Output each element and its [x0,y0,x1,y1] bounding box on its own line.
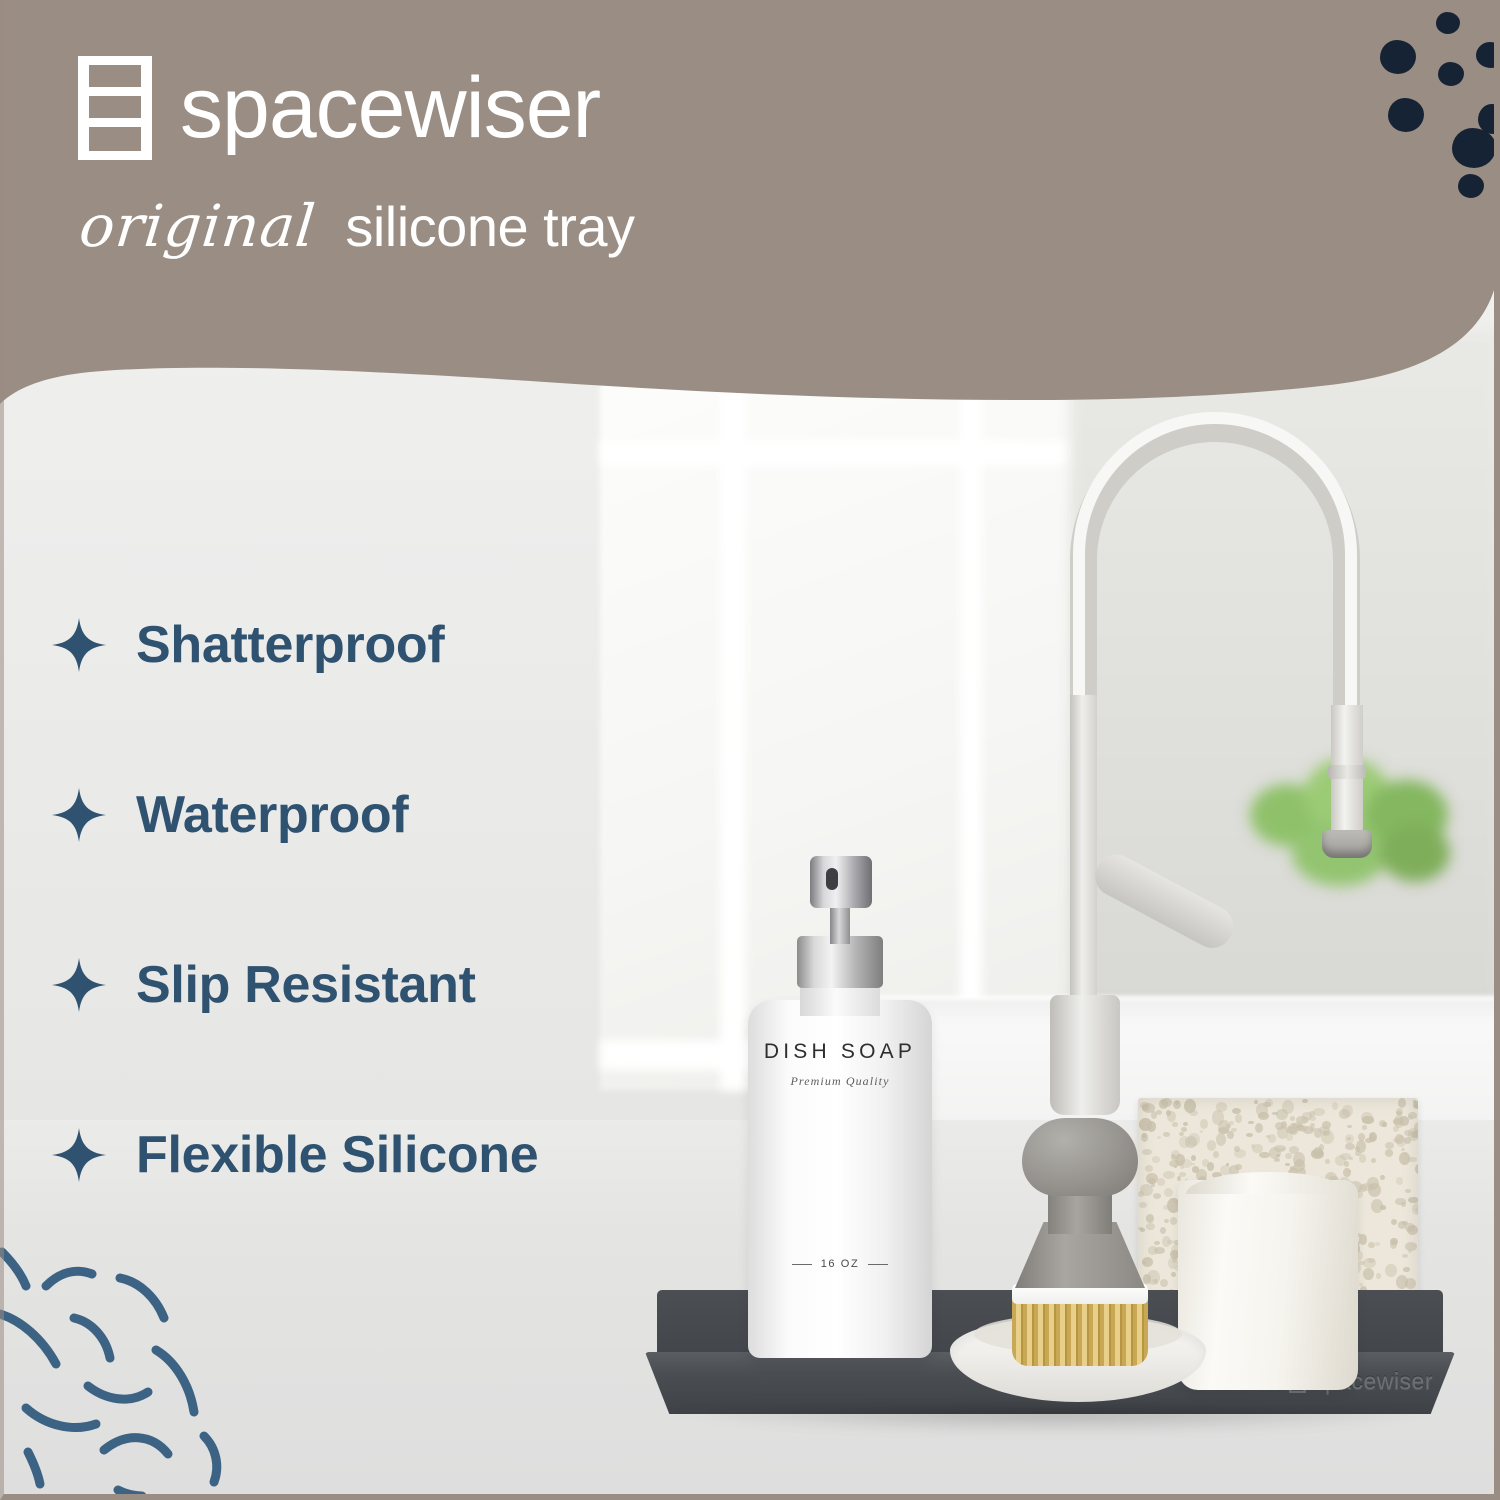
brand-lockup: spacewiser [78,56,600,160]
decorative-dot [1380,40,1416,74]
feature-item: Shatterproof [52,560,692,730]
pump-head [810,856,872,908]
feature-item: Waterproof [52,730,692,900]
decorative-dot [1436,12,1460,34]
feature-label: Flexible Silicone [136,1125,538,1185]
product-marketing-image: spacewiser DISH SOAP Premium Quality [0,0,1500,1500]
sparkle-icon [52,1128,106,1182]
faucet-base [1050,995,1120,1115]
brand-name: spacewiser [180,65,600,151]
soap-bottle-label: DISH SOAP Premium Quality [748,1040,932,1089]
decorative-dots [1350,0,1500,210]
pump-nozzle [826,868,838,890]
feature-label: Slip Resistant [136,955,476,1015]
soap-label-volume-row: 16 OZ [748,1258,932,1270]
feature-item: Flexible Silicone [52,1070,692,1240]
tagline-rest: silicone tray [345,194,634,259]
faucet-handle [1088,847,1240,955]
decorative-dot [1458,174,1484,198]
feature-label: Waterproof [136,785,408,845]
gooseneck-faucet [1040,405,1460,1125]
sparkle-icon [52,788,106,842]
brush-handle [1022,1118,1138,1196]
decorative-dot [1452,128,1496,168]
ladder-icon [78,56,152,160]
dish-brush [960,1118,1200,1378]
dish-soap-dispenser: DISH SOAP Premium Quality 16 OZ [742,848,942,1368]
sparkle-icon [52,618,106,672]
soap-label-volume: 16 OZ [821,1258,860,1270]
decorative-dot [1388,98,1424,132]
feature-item: Slip Resistant [52,900,692,1070]
faucet-aerator [1322,830,1372,858]
decorative-dot [1438,62,1464,86]
feature-label: Shatterproof [136,615,444,675]
soap-label-subtitle: Premium Quality [748,1074,932,1089]
feature-list: ShatterproofWaterproofSlip ResistantFlex… [52,560,692,1240]
soap-label-title: DISH SOAP [748,1040,932,1064]
tagline-script-word: original [76,192,319,260]
tagline: original silicone tray [80,192,635,260]
decorative-dot [1476,42,1500,68]
decorative-brush-strokes [0,1240,260,1500]
sparkle-icon [52,958,106,1012]
brush-bristles [1012,1300,1148,1366]
ceramic-sponge-holder [1178,1180,1358,1390]
